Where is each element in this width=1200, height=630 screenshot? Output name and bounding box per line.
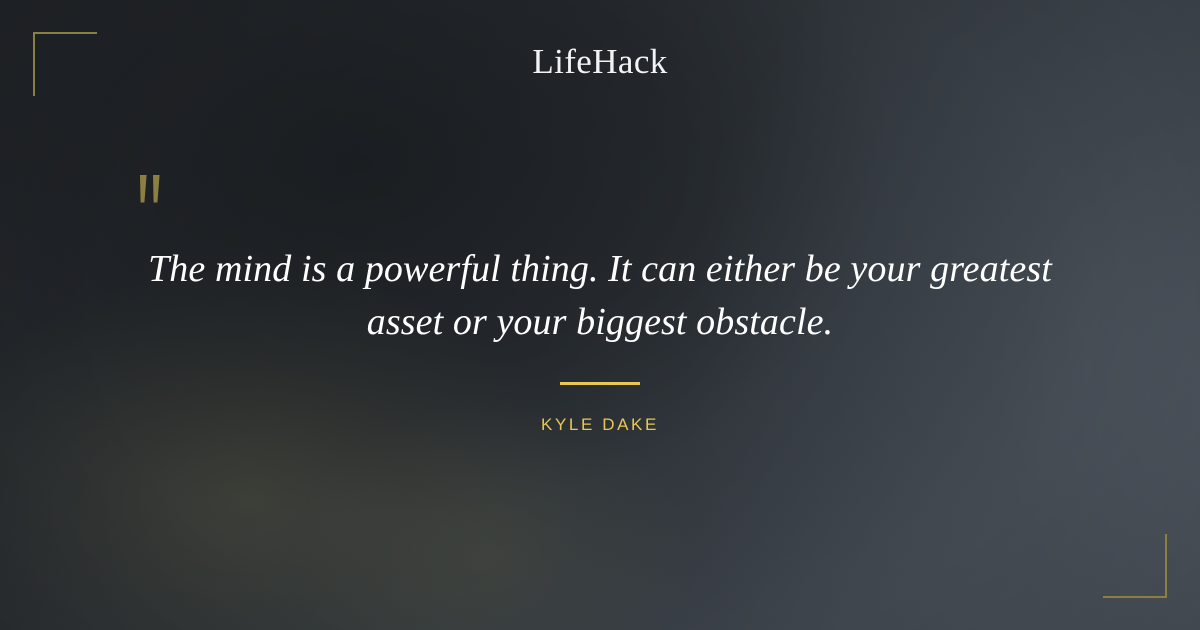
quote-divider	[560, 382, 640, 385]
quote-author: KYLE DAKE	[0, 414, 1200, 436]
quote-card: LifeHack The mind is a powerful thing. I…	[0, 0, 1200, 630]
quote-text: The mind is a powerful thing. It can eit…	[100, 243, 1100, 349]
brand-logo: LifeHack	[0, 40, 1200, 84]
quote-line-1: The mind is a powerful thing. It can eit…	[100, 243, 1100, 296]
quote-mark-icon	[131, 172, 177, 218]
corner-bracket-bottom-right-icon	[1103, 534, 1167, 598]
quote-line-2: asset or your biggest obstacle.	[100, 296, 1100, 349]
